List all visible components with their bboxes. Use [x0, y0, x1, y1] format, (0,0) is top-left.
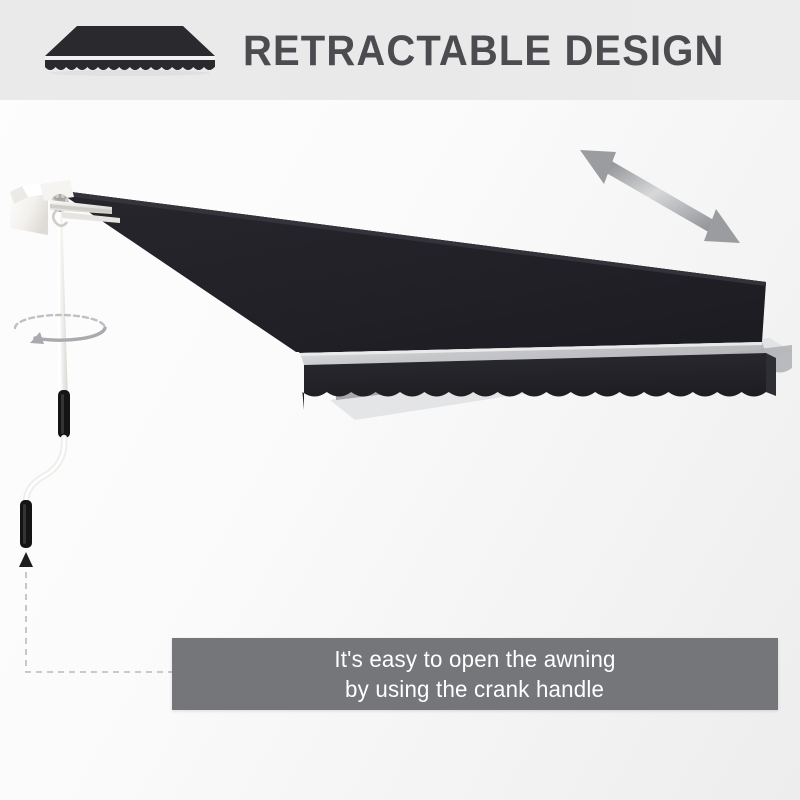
page-title: RETRACTABLE DESIGN [243, 27, 724, 76]
retractable-awning-illustration [0, 100, 800, 660]
crank-handle-bend [26, 438, 64, 506]
caption-box: It's easy to open the awning by using th… [172, 638, 778, 710]
awning-icon [39, 20, 221, 76]
header: RETRACTABLE DESIGN [0, 0, 800, 100]
awning-fabric [55, 188, 766, 353]
infographic-canvas: RETRACTABLE DESIGN [0, 0, 800, 800]
caption-line-2: by using the crank handle [345, 674, 604, 704]
crank-lower-grip [20, 500, 32, 548]
caption-line-1: It's easy to open the awning [334, 644, 615, 674]
crank-upper-grip [58, 390, 70, 438]
crank-rod [53, 210, 68, 402]
crank-pull-arrow [19, 552, 33, 567]
extend-retract-double-arrow [580, 150, 740, 243]
